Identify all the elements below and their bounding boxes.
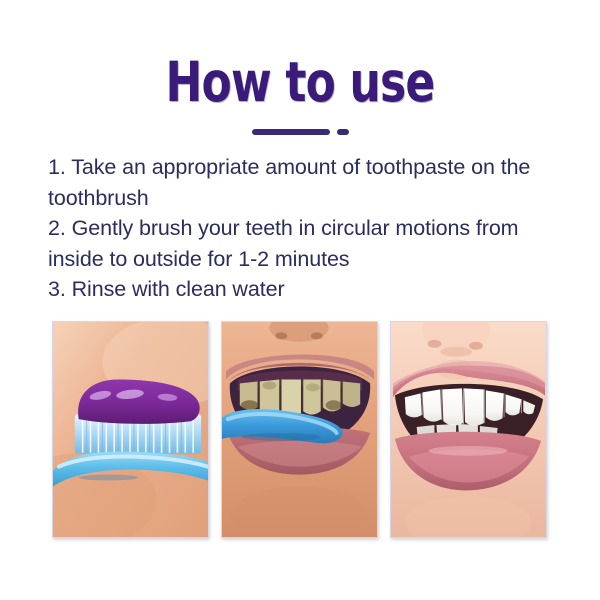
- page-title: How to use: [60, 52, 540, 112]
- instruction-step-1: 1. Take an appropriate amount of toothpa…: [48, 152, 576, 213]
- divider-short-dash: [337, 129, 349, 135]
- instruction-step-3: 3. Rinse with clean water: [48, 274, 576, 305]
- toothbrush-illustration: [53, 322, 208, 537]
- photo-gallery: [52, 321, 548, 538]
- how-to-use-infographic: How to use 1. Take an appropriate amount…: [0, 0, 600, 600]
- instruction-step-2: 2. Gently brush your teeth in circular m…: [48, 213, 576, 274]
- white-smile-illustration: [391, 322, 546, 537]
- photo-toothbrush-with-toothpaste: [52, 321, 209, 538]
- divider-long-dash: [252, 129, 330, 135]
- stained-teeth-illustration: [222, 322, 377, 537]
- photo-white-smile-after: [390, 321, 547, 538]
- title-divider: [0, 127, 600, 137]
- photo-stained-teeth-before: [221, 321, 378, 538]
- instruction-list: 1. Take an appropriate amount of toothpa…: [48, 152, 576, 305]
